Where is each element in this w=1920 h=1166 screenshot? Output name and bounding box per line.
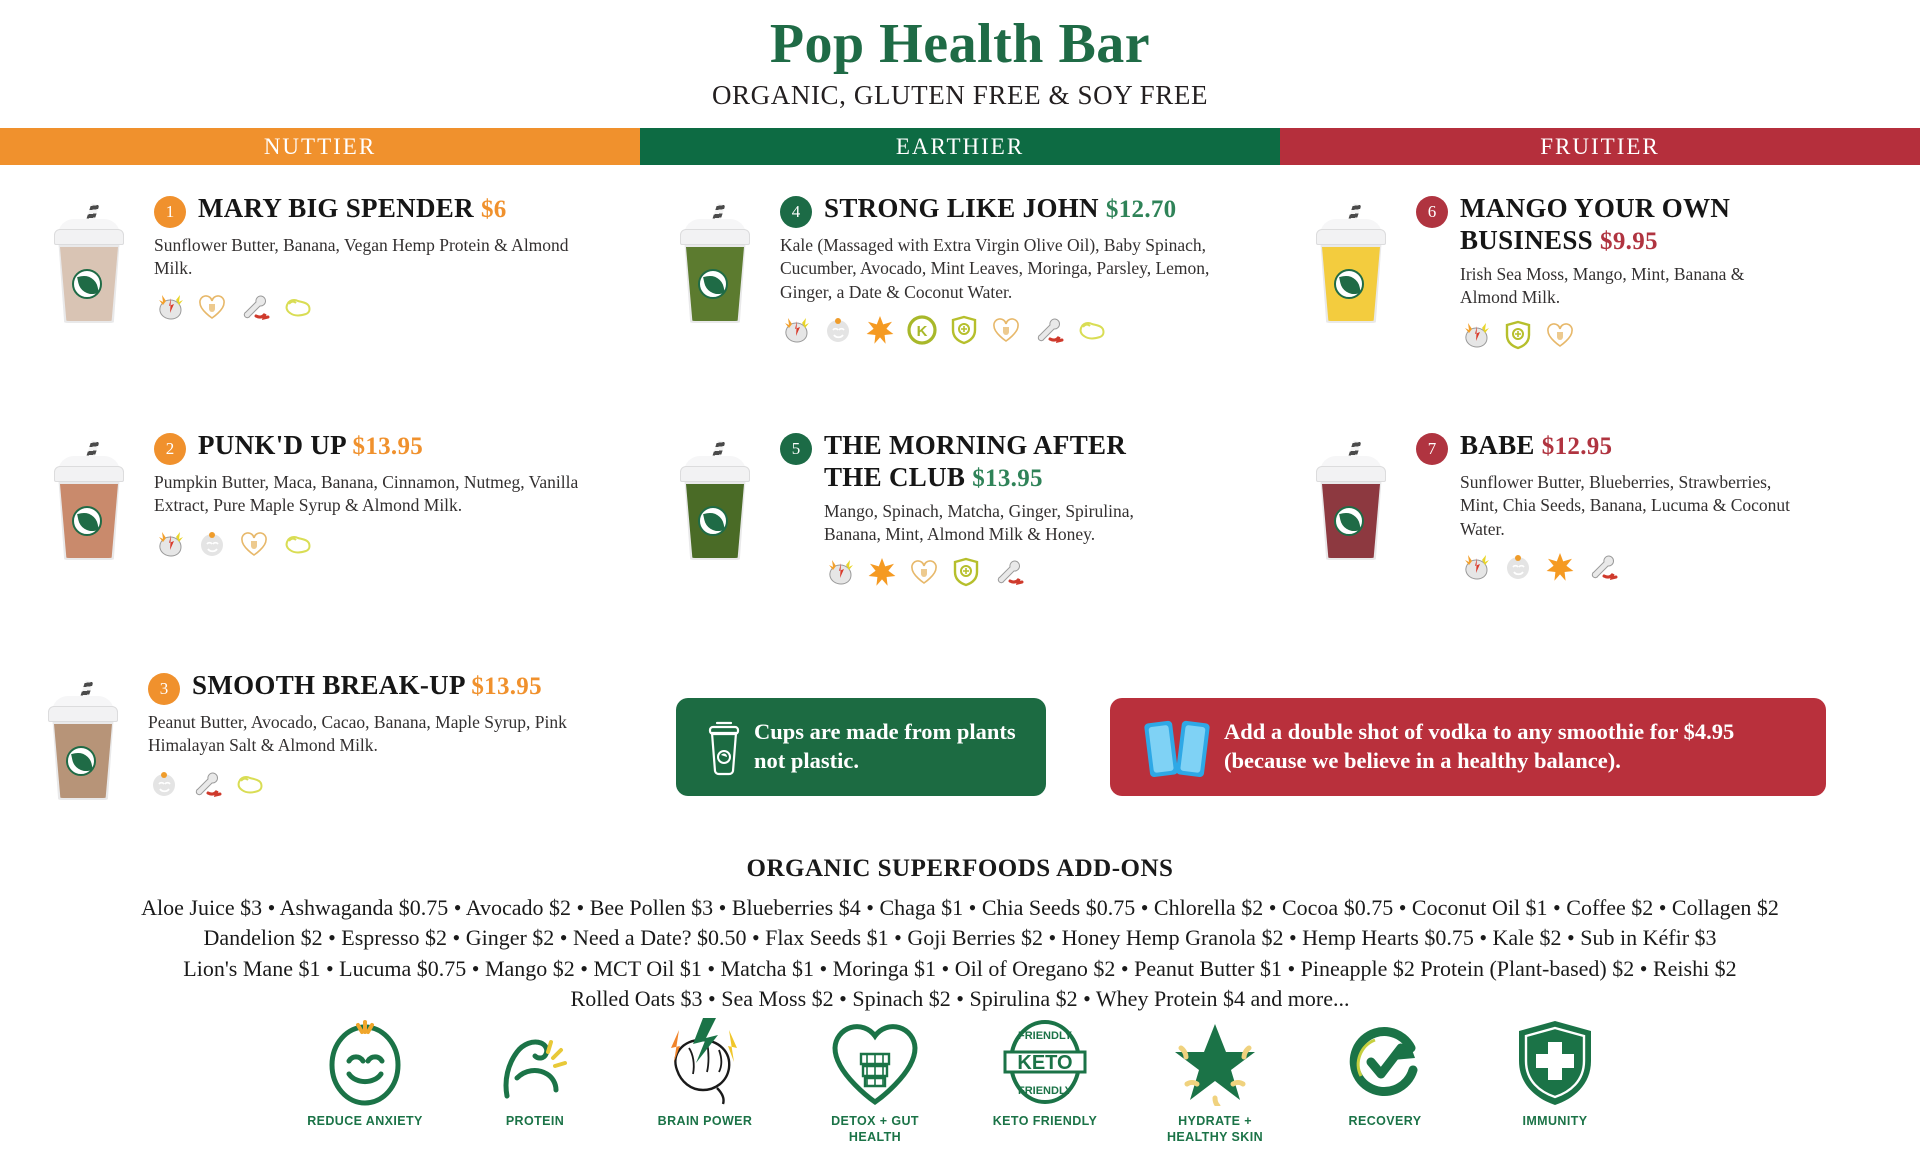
legend-label: DETOX + GUT HEALTH [811, 1114, 939, 1145]
legend-item-immunity: IMMUNITY [1491, 1018, 1619, 1130]
vodka-banner-text: Add a double shot of vodka to any smooth… [1224, 718, 1806, 776]
item-number-badge: 5 [780, 433, 812, 465]
item-number-badge: 6 [1416, 196, 1448, 228]
hydrate-healthy-skin-icon [866, 556, 898, 588]
item-price: $12.95 [1542, 433, 1613, 460]
menu-item-2[interactable]: 2 PUNK'D UP $13.95 Pumpkin Butter, Maca,… [46, 430, 666, 561]
legend-label: IMMUNITY [1523, 1114, 1588, 1130]
vodka-banner[interactable]: Add a double shot of vodka to any smooth… [1110, 698, 1826, 796]
item-name: PUNK'D UP [198, 430, 345, 460]
legend-label: HYDRATE + HEALTHY SKIN [1151, 1114, 1279, 1145]
item-title: PUNK'D UP $13.95 [198, 430, 423, 462]
item-number-badge: 3 [148, 673, 180, 705]
brain-bolt-icon [657, 1018, 753, 1106]
legend-label: PROTEIN [506, 1114, 564, 1130]
addons-line: Aloe Juice $3 • Ashwaganda $0.75 • Avoca… [0, 893, 1920, 923]
item-title: THE MORNING AFTER THE CLUB $13.95 [824, 430, 1184, 494]
item-name: STRONG LIKE JOHN [824, 193, 1099, 223]
item-name: SMOOTH BREAK-UP [192, 670, 464, 700]
page-header: Pop Health Bar ORGANIC, GLUTEN FREE & SO… [0, 0, 1920, 111]
item-title: BABE $12.95 [1460, 430, 1612, 462]
item-description: Sunflower Butter, Banana, Vegan Hemp Pro… [154, 234, 574, 281]
page-title: Pop Health Bar [0, 16, 1920, 72]
item-title: MARY BIG SPENDER $6 [198, 193, 507, 225]
smoothie-cup-illustration [1308, 430, 1408, 560]
protein-icon [1074, 314, 1106, 346]
protein-icon [280, 291, 312, 323]
svg-text:K: K [917, 323, 928, 340]
hydrate-healthy-skin-icon [864, 314, 896, 346]
item-number-badge: 2 [154, 433, 186, 465]
menu-item-6[interactable]: 6 MANGO YOUR OWN BUSINESS $9.95 Irish Se… [1308, 193, 1888, 352]
item-number-badge: 4 [780, 196, 812, 228]
star-sparkle-icon [1169, 1018, 1261, 1106]
item-title: STRONG LIKE JOHN $12.70 [824, 193, 1176, 225]
protein-icon [280, 528, 312, 560]
plant-cup-icon [694, 717, 754, 777]
item-price: $13.95 [353, 433, 424, 460]
brain-power-icon [1460, 319, 1492, 351]
legend-item-recovery: RECOVERY [1321, 1018, 1449, 1130]
recovery-icon [992, 556, 1024, 588]
item-description: Mango, Spinach, Matcha, Ginger, Spirulin… [824, 500, 1184, 547]
keto-seal-icon: KETOFRIENDLYFRIENDLY [1001, 1018, 1089, 1106]
benefit-icon-row [1460, 318, 1888, 352]
detox-gut-health-icon [990, 314, 1022, 346]
benefit-legend: REDUCE ANXIETY PROTEIN BRAIN POWER DETOX… [0, 1018, 1920, 1145]
immunity-icon [1502, 319, 1534, 351]
legend-item-reduce-anxiety: REDUCE ANXIETY [301, 1018, 429, 1130]
brain-power-icon [1460, 551, 1492, 583]
page-tagline: ORGANIC, GLUTEN FREE & SOY FREE [0, 80, 1920, 111]
menu-item-7[interactable]: 7 BABE $12.95 Sunflower Butter, Blueberr… [1308, 430, 1888, 584]
vodka-shots-icon [1130, 714, 1224, 780]
menu-item-3[interactable]: 3 SMOOTH BREAK-UP $13.95 Peanut Butter, … [40, 670, 660, 801]
benefit-icon-row [148, 767, 660, 801]
smoothie-cup-illustration [40, 670, 140, 800]
item-title: SMOOTH BREAK-UP $13.95 [192, 670, 542, 702]
legend-item-keto-friendly: KETOFRIENDLYFRIENDLY KETO FRIENDLY [981, 1018, 1109, 1130]
svg-text:KETO: KETO [1017, 1052, 1072, 1074]
detox-gut-health-icon [908, 556, 940, 588]
item-price: $13.95 [972, 465, 1043, 492]
cups-banner[interactable]: Cups are made from plants not plastic. [676, 698, 1046, 796]
legend-item-hydrate-healthy-skin: HYDRATE + HEALTHY SKIN [1151, 1018, 1279, 1145]
item-price: $9.95 [1600, 228, 1658, 255]
menu-item-1[interactable]: 1 MARY BIG SPENDER $6 Sunflower Butter, … [46, 193, 646, 324]
benefit-icon-row: K [780, 313, 1272, 347]
item-title: MANGO YOUR OWN BUSINESS $9.95 [1460, 193, 1790, 257]
reduce-anxiety-icon [822, 314, 854, 346]
flexed-bicep-icon [493, 1018, 577, 1106]
smoothie-cup-illustration [46, 193, 146, 323]
item-price: $12.70 [1106, 196, 1177, 223]
detox-gut-health-icon [238, 528, 270, 560]
benefit-icon-row [154, 290, 646, 324]
shield-cross-icon [1513, 1018, 1597, 1106]
benefit-icon-row [824, 555, 1272, 589]
menu-item-5[interactable]: 5 THE MORNING AFTER THE CLUB $13.95 Mang… [672, 430, 1272, 589]
immunity-icon [948, 314, 980, 346]
detox-gut-health-icon [1544, 319, 1576, 351]
detox-gut-health-icon [196, 291, 228, 323]
legend-label: RECOVERY [1349, 1114, 1422, 1130]
addons-section: ORGANIC SUPERFOODS ADD-ONS Aloe Juice $3… [0, 855, 1920, 1014]
category-bar: NUTTIER EARTHIER FRUITIER [0, 128, 1920, 165]
reduce-anxiety-icon [1502, 551, 1534, 583]
legend-label: REDUCE ANXIETY [307, 1114, 423, 1130]
addons-line: Rolled Oats $3 • Sea Moss $2 • Spinach $… [0, 984, 1920, 1014]
heart-gut-icon [829, 1018, 921, 1106]
item-description: Peanut Butter, Avocado, Cacao, Banana, M… [148, 711, 578, 758]
smoothie-cup-illustration [1308, 193, 1408, 323]
item-name: MARY BIG SPENDER [198, 193, 474, 223]
check-cycle-icon [1341, 1018, 1429, 1106]
addons-line: Lion's Mane $1 • Lucuma $0.75 • Mango $2… [0, 954, 1920, 984]
brain-power-icon [780, 314, 812, 346]
menu-grid: 1 MARY BIG SPENDER $6 Sunflower Butter, … [0, 165, 1920, 195]
legend-item-protein: PROTEIN [471, 1018, 599, 1130]
category-nuttier[interactable]: NUTTIER [0, 128, 640, 165]
item-description: Pumpkin Butter, Maca, Banana, Cinnamon, … [154, 471, 584, 518]
svg-text:FRIENDLY: FRIENDLY [1018, 1085, 1073, 1097]
category-fruitier[interactable]: FRUITIER [1280, 128, 1920, 165]
legend-label: KETO FRIENDLY [993, 1114, 1098, 1130]
benefit-icon-row [1460, 550, 1888, 584]
benefit-icon-row [154, 527, 666, 561]
reduce-anxiety-icon [148, 768, 180, 800]
keto-friendly-icon: K [906, 314, 938, 346]
item-description: Irish Sea Moss, Mango, Mint, Banana & Al… [1460, 263, 1790, 310]
addons-line: Dandelion $2 • Espresso $2 • Ginger $2 •… [0, 923, 1920, 953]
protein-icon [232, 768, 264, 800]
recovery-icon [1032, 314, 1064, 346]
smoothie-cup-illustration [46, 430, 146, 560]
hydrate-healthy-skin-icon [1544, 551, 1576, 583]
item-price: $13.95 [471, 673, 542, 700]
smoothie-cup-illustration [672, 430, 772, 560]
recovery-icon [1586, 551, 1618, 583]
item-name: BABE [1460, 430, 1535, 460]
reduce-anxiety-icon [196, 528, 228, 560]
brain-power-icon [154, 291, 186, 323]
recovery-icon [190, 768, 222, 800]
item-number-badge: 1 [154, 196, 186, 228]
item-name: MANGO YOUR OWN BUSINESS [1460, 193, 1730, 255]
smiley-face-icon [323, 1018, 407, 1106]
item-description: Sunflower Butter, Blueberries, Strawberr… [1460, 471, 1790, 541]
brain-power-icon [824, 556, 856, 588]
smoothie-cup-illustration [672, 193, 772, 323]
item-number-badge: 7 [1416, 433, 1448, 465]
category-earthier[interactable]: EARTHIER [640, 128, 1280, 165]
legend-item-detox-gut-health: DETOX + GUT HEALTH [811, 1018, 939, 1145]
recovery-icon [238, 291, 270, 323]
addons-title: ORGANIC SUPERFOODS ADD-ONS [0, 855, 1920, 883]
menu-item-4[interactable]: 4 STRONG LIKE JOHN $12.70 Kale (Massaged… [672, 193, 1272, 347]
cups-banner-text: Cups are made from plants not plastic. [754, 718, 1028, 776]
brain-power-icon [154, 528, 186, 560]
legend-item-brain-power: BRAIN POWER [641, 1018, 769, 1130]
item-description: Kale (Massaged with Extra Virgin Olive O… [780, 234, 1210, 304]
immunity-icon [950, 556, 982, 588]
legend-label: BRAIN POWER [658, 1114, 753, 1130]
item-price: $6 [481, 196, 507, 223]
svg-text:FRIENDLY: FRIENDLY [1018, 1030, 1073, 1042]
